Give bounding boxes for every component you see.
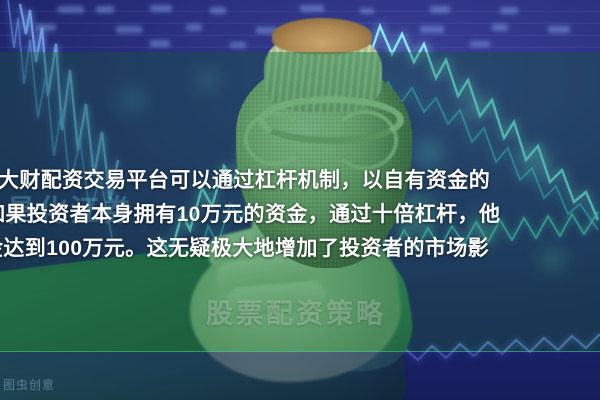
caption-line-3: 金达到100万元。这无疑极大地增加了投资者的市场影: [0, 232, 600, 266]
caption-line-2: 如果投资者本身拥有10万元的资金，通过十倍杠杆，他: [0, 198, 600, 232]
corner-credit-watermark: 图虫创意: [3, 376, 55, 393]
image-canvas: 昌化江券 股票配资策略 图虫创意 大财配资交易平台可以通过杠杆机制，以自有资金的…: [0, 0, 600, 400]
caption-overlay: 大财配资交易平台可以通过杠杆机制，以自有资金的 如果投资者本身拥有10万元的资金…: [0, 164, 600, 266]
caption-line-1: 大财配资交易平台可以通过杠杆机制，以自有资金的: [0, 164, 600, 198]
bottom-blue-band: [0, 352, 600, 400]
center-watermark: 股票配资策略: [206, 292, 386, 331]
money-bag-opening: [272, 18, 372, 54]
